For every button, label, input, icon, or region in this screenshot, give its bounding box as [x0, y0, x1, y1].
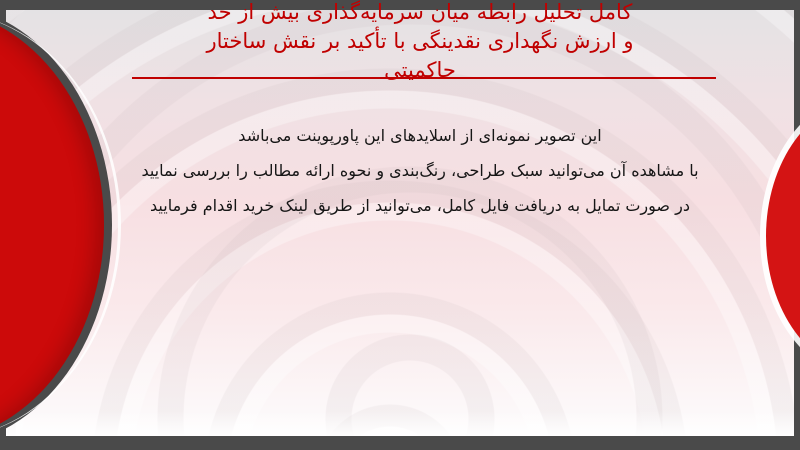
slide-title-line-1: کامل تحلیل رابطه میان سرمایه‌گذاری بیش ا… [120, 0, 720, 27]
slide-body-text: این تصویر نمونه‌ای از اسلایدهای این پاور… [120, 118, 720, 223]
background-bottom-sheen [0, 411, 800, 437]
presentation-slide: کامل تحلیل رابطه میان سرمایه‌گذاری بیش ا… [0, 0, 800, 450]
slide-body-line-1: این تصویر نمونه‌ای از اسلایدهای این پاور… [120, 118, 720, 153]
slide-title: کامل تحلیل رابطه میان سرمایه‌گذاری بیش ا… [120, 0, 720, 85]
frame-band-bottom [0, 436, 800, 450]
slide-body-line-3: در صورت تمایل به دریافت فایل کامل، می‌تو… [120, 188, 720, 223]
slide-body-line-2: با مشاهده آن می‌توانید سبک طراحی، رنگ‌بن… [120, 153, 720, 188]
title-divider-rule [132, 77, 716, 79]
slide-title-line-2: و ارزش نگهداری نقدینگی با تأکید بر نقش س… [120, 27, 720, 56]
slide-title-line-3: حاکمیتی [120, 56, 720, 85]
